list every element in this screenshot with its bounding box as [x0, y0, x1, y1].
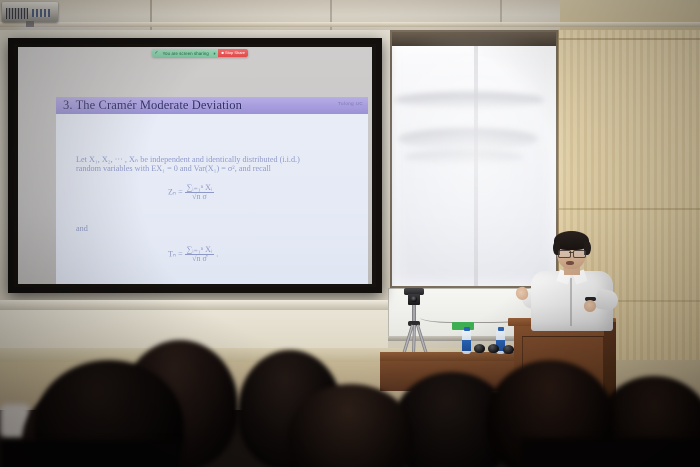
- equation-zn-denominator: √n σ: [185, 192, 215, 201]
- pause-share-icon[interactable]: ⏸: [210, 51, 218, 56]
- water-bottle-cap: [464, 327, 470, 331]
- ceiling-projector: [2, 2, 58, 22]
- wall-ledge: [0, 300, 388, 310]
- check-icon: ✓: [152, 50, 161, 56]
- tabletop-object: [503, 345, 514, 354]
- slide-body: Let X₁, X₂, ··· , Xₙ be independent and …: [56, 114, 368, 284]
- speaker-right-hand: [584, 300, 596, 312]
- slide-title: 3. The Cramér Moderate Deviation: [63, 98, 242, 113]
- ceiling-tile-seam: [150, 0, 152, 34]
- camera-lens-icon: [411, 296, 417, 302]
- water-bottle-cap: [498, 327, 504, 331]
- slide-text-line-1: Let X₁, X₂, ··· , Xₙ be independent and …: [76, 154, 300, 164]
- audience-shoulder: [520, 438, 700, 467]
- ceiling-tile-seam: [330, 0, 332, 34]
- equation-zn-relation: =: [178, 188, 183, 197]
- projector-vent-icon: [6, 8, 28, 19]
- lecture-hall-screenshot: 3. The Cramér Moderate Deviation Tulong …: [0, 0, 700, 467]
- water-bottle-label: [462, 340, 471, 351]
- cloud-shape: [398, 128, 538, 150]
- projector-ports-icon: [32, 9, 50, 17]
- screen-sharing-label: You are screen sharing: [161, 51, 210, 56]
- ceiling-light-strip: [0, 22, 700, 27]
- wood-panel-seam: [559, 38, 700, 40]
- slide-text-line-2: random variables with EX₁ = 0 and Var(X₁…: [76, 164, 271, 173]
- audience-shoulder: [0, 440, 180, 467]
- cloud-shape: [404, 150, 524, 164]
- presentation-slide: 3. The Cramér Moderate Deviation Tulong …: [56, 97, 368, 284]
- wood-panel-seam: [559, 208, 700, 210]
- eyeglasses-icon: [573, 250, 586, 258]
- screen-sharing-toolbar[interactable]: ✓ You are screen sharing ⏸ ■ Stop Share: [152, 49, 248, 57]
- equation-tn-lhs: Tₙ: [168, 250, 176, 259]
- green-wall-sign: [452, 322, 474, 330]
- equation-zn-fraction: ∑ᵢ₌₁ⁿ Xᵢ √n σ: [185, 184, 215, 202]
- tabletop-object: [488, 344, 499, 353]
- slide-watermark: Tulong UC: [338, 101, 363, 106]
- projection-screen-surface: 3. The Cramér Moderate Deviation Tulong …: [18, 47, 372, 284]
- equation-tn-relation: =: [178, 250, 183, 259]
- stop-share-button[interactable]: ■ Stop Share: [218, 49, 248, 57]
- equation-zn-lhs: Zₙ: [168, 188, 176, 197]
- tabletop-object: [474, 344, 485, 353]
- ceiling-wood-panel: [560, 0, 700, 34]
- shirt-placket: [570, 278, 572, 326]
- window-mullion: [474, 46, 478, 286]
- cloud-shape: [394, 92, 544, 108]
- projector-mount: [26, 21, 34, 27]
- eyeglasses-bridge: [569, 252, 573, 253]
- equation-tn-denominator: √n σ̂: [185, 254, 215, 263]
- equation-tn-punctuation: .: [216, 250, 218, 259]
- equation-tn: Tₙ = ∑ᵢ₌₁ⁿ Xᵢ √n σ̂ .: [168, 246, 218, 264]
- slide-text-connector: and: [76, 224, 88, 233]
- window-header-rail: [392, 32, 556, 46]
- equation-zn: Zₙ = ∑ᵢ₌₁ⁿ Xᵢ √n σ: [168, 184, 214, 202]
- speaker-mouth: [566, 261, 574, 265]
- equation-tn-fraction: ∑ᵢ₌₁ⁿ Xᵢ √n σ̂: [185, 246, 215, 264]
